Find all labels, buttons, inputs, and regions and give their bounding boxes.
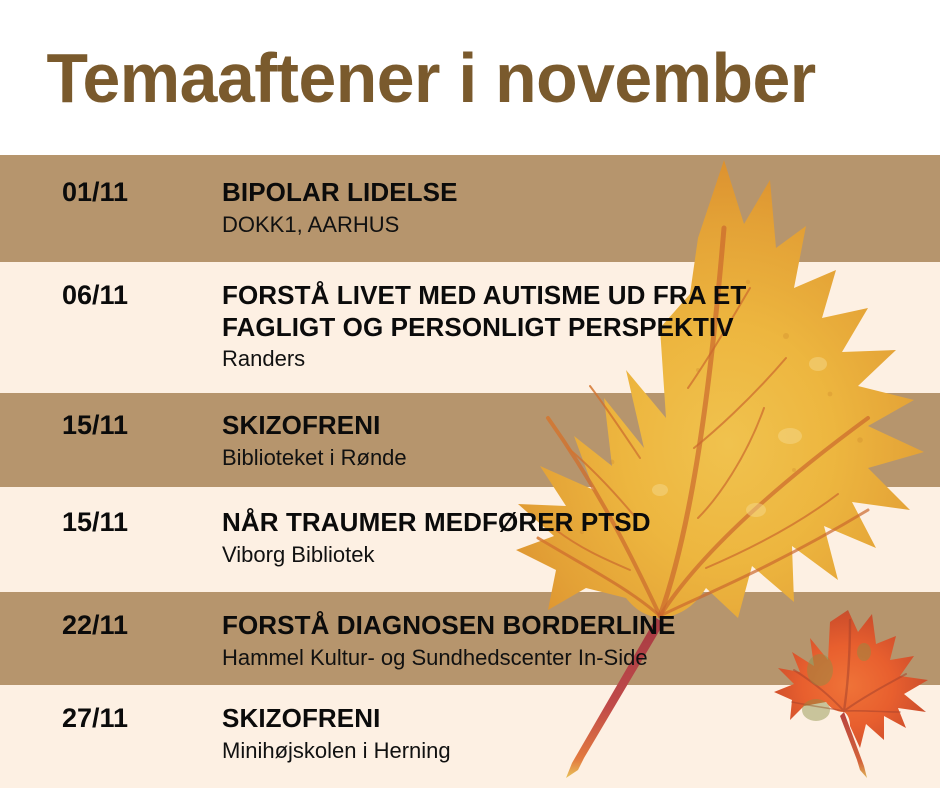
event-venue: DOKK1, AARHUS bbox=[222, 212, 922, 238]
event-date: 15/11 bbox=[62, 410, 212, 441]
event-venue: Minihøjskolen i Herning bbox=[222, 738, 922, 764]
event-date: 22/11 bbox=[62, 610, 212, 641]
event-title: FORSTÅ DIAGNOSEN BORDERLINE bbox=[222, 610, 922, 642]
band-stack bbox=[0, 155, 940, 788]
event-venue: Hammel Kultur- og Sundhedscenter In-Side bbox=[222, 645, 922, 671]
title-bar: Temaaftener i november bbox=[0, 0, 940, 155]
event-title: SKIZOFRENI bbox=[222, 410, 922, 442]
event-title: SKIZOFRENI bbox=[222, 703, 922, 735]
page-title: Temaaftener i november bbox=[0, 43, 816, 113]
event-date: 15/11 bbox=[62, 507, 212, 538]
event-date: 27/11 bbox=[62, 703, 212, 734]
event-date: 06/11 bbox=[62, 280, 212, 311]
event-venue: Biblioteket i Rønde bbox=[222, 445, 922, 471]
poster-canvas: Temaaftener i november 01/11 BIPOLAR LID… bbox=[0, 0, 940, 788]
event-title: BIPOLAR LIDELSE bbox=[222, 177, 922, 209]
event-venue: Viborg Bibliotek bbox=[222, 542, 922, 568]
event-venue: Randers bbox=[222, 346, 922, 372]
event-date: 01/11 bbox=[62, 177, 212, 208]
event-title: FORSTÅ LIVET MED AUTISME UD FRA ET FAGLI… bbox=[222, 280, 922, 343]
event-title: NÅR TRAUMER MEDFØRER PTSD bbox=[222, 507, 922, 539]
